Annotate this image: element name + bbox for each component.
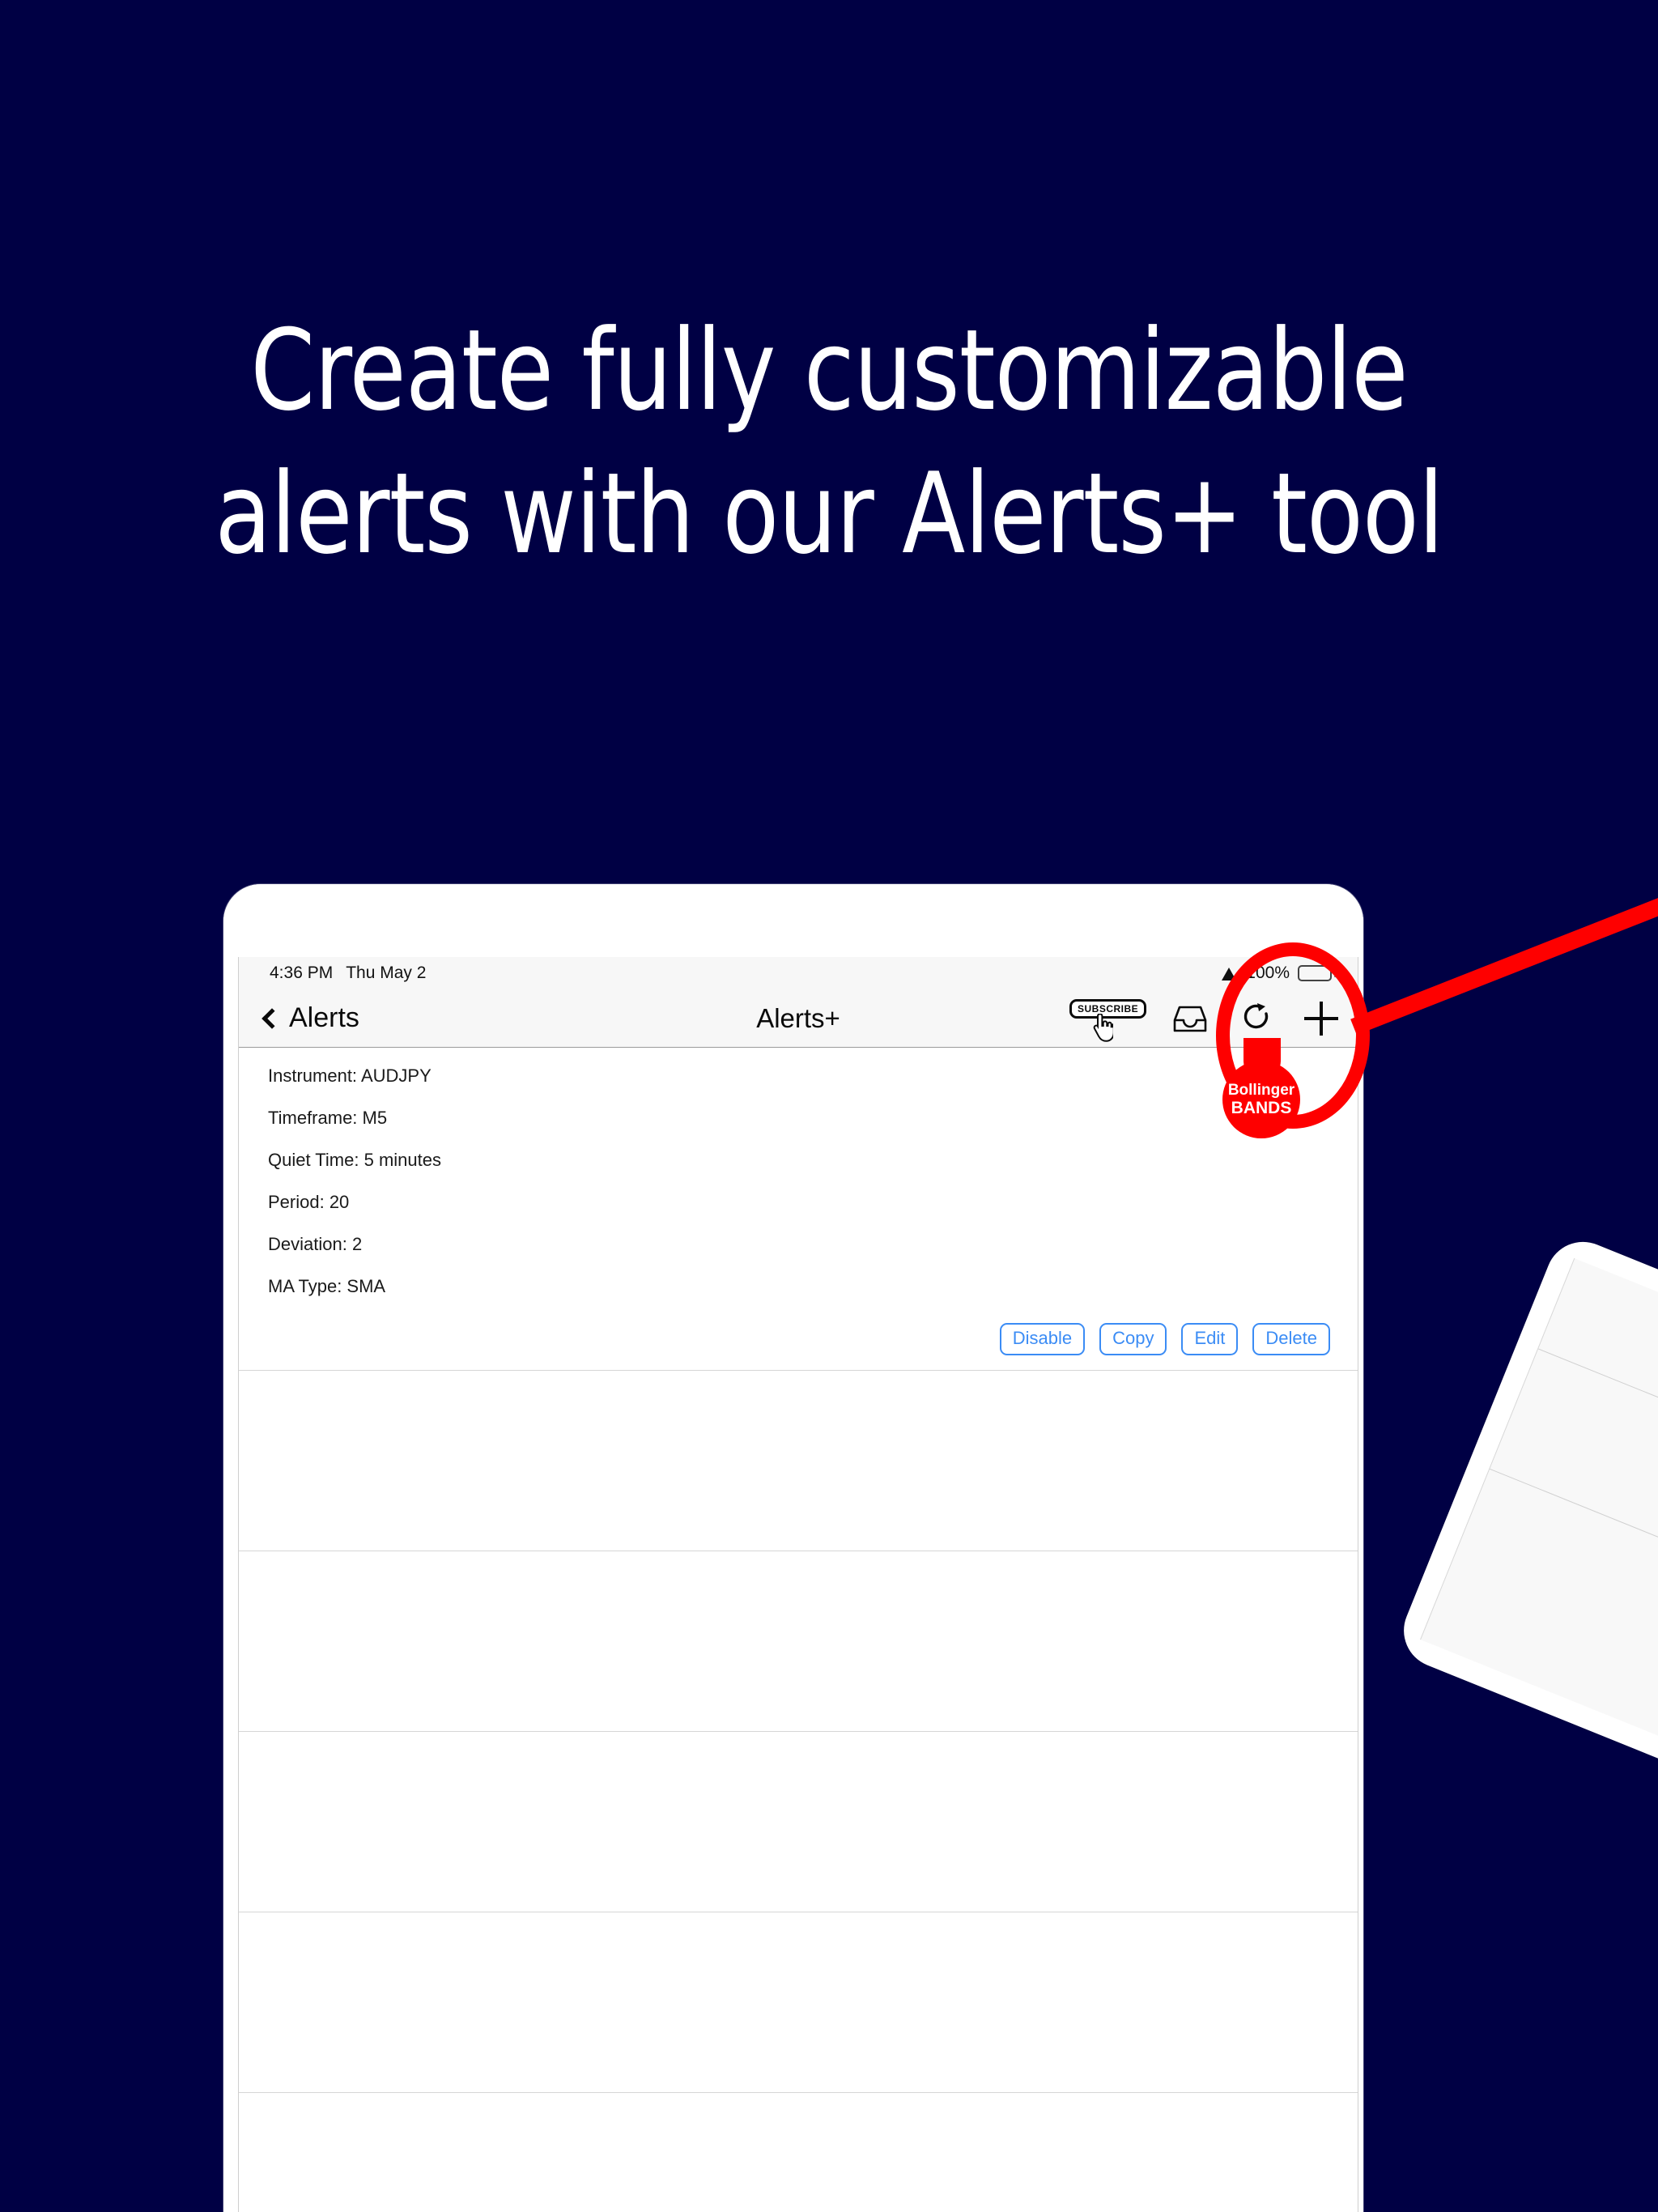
status-date: Thu May 2 — [346, 963, 426, 983]
list-item[interactable] — [239, 1551, 1358, 1731]
app-viewport: 4:36 PM Thu May 2 100% Alerts — [238, 957, 1358, 2212]
ios-status-bar: 4:36 PM Thu May 2 100% — [239, 957, 1358, 989]
alert-detail-deviation: Deviation: 2 — [239, 1236, 1358, 1253]
refresh-icon[interactable] — [1241, 1001, 1272, 1036]
subscribe-button[interactable]: SUBSCRIBE — [1069, 998, 1139, 1040]
secondary-tablet-device — [1392, 1231, 1658, 1779]
copy-button[interactable]: Copy — [1099, 1323, 1167, 1355]
alert-action-row: Disable Copy Edit Delete — [239, 1320, 1358, 1370]
disable-button[interactable]: Disable — [1000, 1323, 1085, 1355]
alert-detail-quiet-time: Quiet Time: 5 minutes — [239, 1151, 1358, 1169]
list-item[interactable] — [239, 1912, 1358, 2092]
back-button[interactable]: Alerts — [265, 1002, 359, 1034]
tablet-screen: 4:36 PM Thu May 2 100% Alerts — [223, 884, 1363, 2212]
list-item[interactable] — [239, 2093, 1358, 2212]
back-button-label: Alerts — [289, 1002, 359, 1034]
edit-button[interactable]: Edit — [1181, 1323, 1238, 1355]
bollinger-bands-badge: Bollinger BANDS — [1222, 1061, 1300, 1138]
battery-full-icon — [1298, 965, 1337, 981]
list-item[interactable] — [239, 1371, 1358, 1551]
badge-line-2: BANDS — [1231, 1099, 1292, 1118]
delete-button[interactable]: Delete — [1252, 1323, 1330, 1355]
list-item[interactable] — [239, 1732, 1358, 1912]
wifi-icon — [1220, 966, 1238, 981]
chevron-left-icon — [261, 1008, 282, 1028]
add-alert-button[interactable] — [1304, 1002, 1338, 1036]
status-time: 4:36 PM — [270, 963, 333, 983]
app-navigation-bar: Alerts Alerts+ SUBSCRIBE — [239, 989, 1358, 1048]
inbox-tray-icon[interactable] — [1171, 1003, 1209, 1034]
annotation-pointer-line — [1350, 891, 1658, 1035]
alert-detail-period: Period: 20 — [239, 1193, 1358, 1211]
secondary-tablet-screen — [1420, 1258, 1658, 1756]
tablet-device: 4:36 PM Thu May 2 100% Alerts — [223, 884, 1363, 2212]
pointing-hand-icon — [1089, 1014, 1113, 1043]
alert-detail-instrument: Instrument: AUDJPY — [239, 1067, 1358, 1085]
alert-detail-ma-type: MA Type: SMA — [239, 1278, 1358, 1295]
badge-line-1: Bollinger — [1228, 1082, 1295, 1099]
battery-percent-label: 100% — [1246, 963, 1290, 983]
alert-detail-timeframe: Timeframe: M5 — [239, 1109, 1358, 1127]
promo-headline: Create fully customizable alerts with ou… — [66, 300, 1592, 585]
alert-card: Instrument: AUDJPY Timeframe: M5 Quiet T… — [239, 1048, 1358, 1370]
